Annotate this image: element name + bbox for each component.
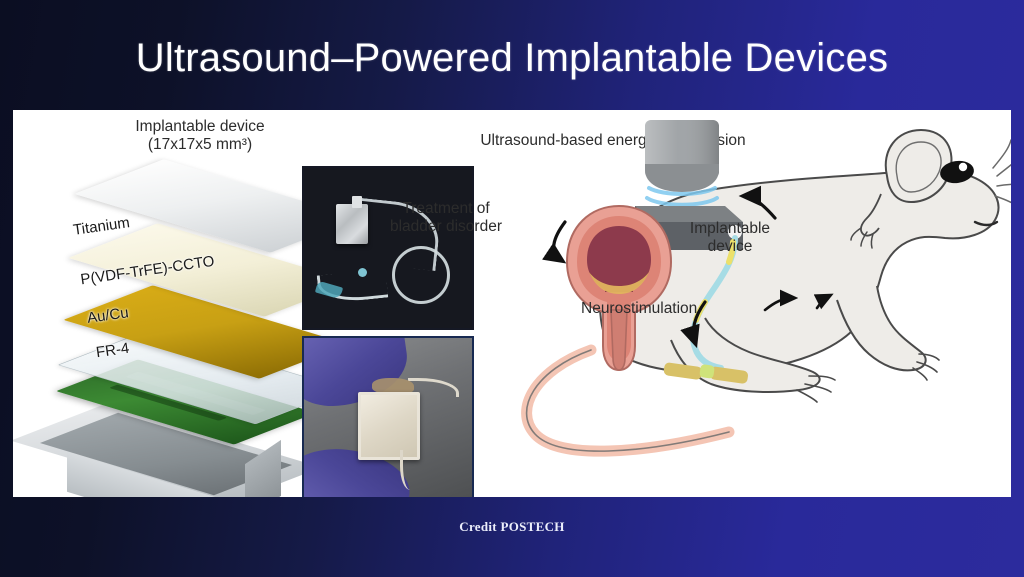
bladder-disorder-line2: bladder disorder	[390, 218, 502, 235]
figure-panel: Implantable device (17x17x5 mm³) Titaniu…	[13, 110, 1011, 497]
bladder-disorder-annotation: Treatment of bladder disorder	[361, 200, 531, 237]
catheter-coil	[392, 246, 450, 304]
gloved-hand-holding-device-photo	[302, 336, 474, 497]
catheter-junction	[358, 268, 367, 277]
implantable-device-line1: Implantable	[690, 220, 770, 237]
implantable-device-caption: Implantable device (17x17x5 mm³)	[75, 118, 325, 155]
credit-line: Credit POSTECH	[0, 519, 1024, 535]
transducer-probe-base	[645, 164, 719, 192]
mouse-eye-highlight	[959, 163, 967, 171]
implantable-device-line2: device	[708, 238, 753, 255]
neurostimulation-annotation: Neurostimulation	[581, 300, 781, 318]
layer-label-titanium: Titanium	[72, 214, 131, 239]
implantable-device-caption-line1: Implantable device	[135, 118, 264, 135]
bladder-disorder-line1: Treatment of	[402, 200, 489, 217]
device-with-catheter-photo	[302, 166, 474, 330]
implantable-device-annotation: Implantable device	[655, 220, 805, 257]
implantable-device-caption-line2: (17x17x5 mm³)	[148, 136, 252, 153]
page-title: Ultrasound–Powered Implantable Devices	[0, 36, 1024, 80]
slide-root: Ultrasound–Powered Implantable Devices I…	[0, 0, 1024, 577]
bladder-urethra	[611, 310, 627, 370]
device-trailing-wire	[400, 450, 417, 490]
mouse-hind-leg-right	[837, 286, 926, 370]
exploded-device-diagram: Titanium P(VDF-TrFE)-CCTO Au/Cu FR-4	[13, 152, 293, 497]
